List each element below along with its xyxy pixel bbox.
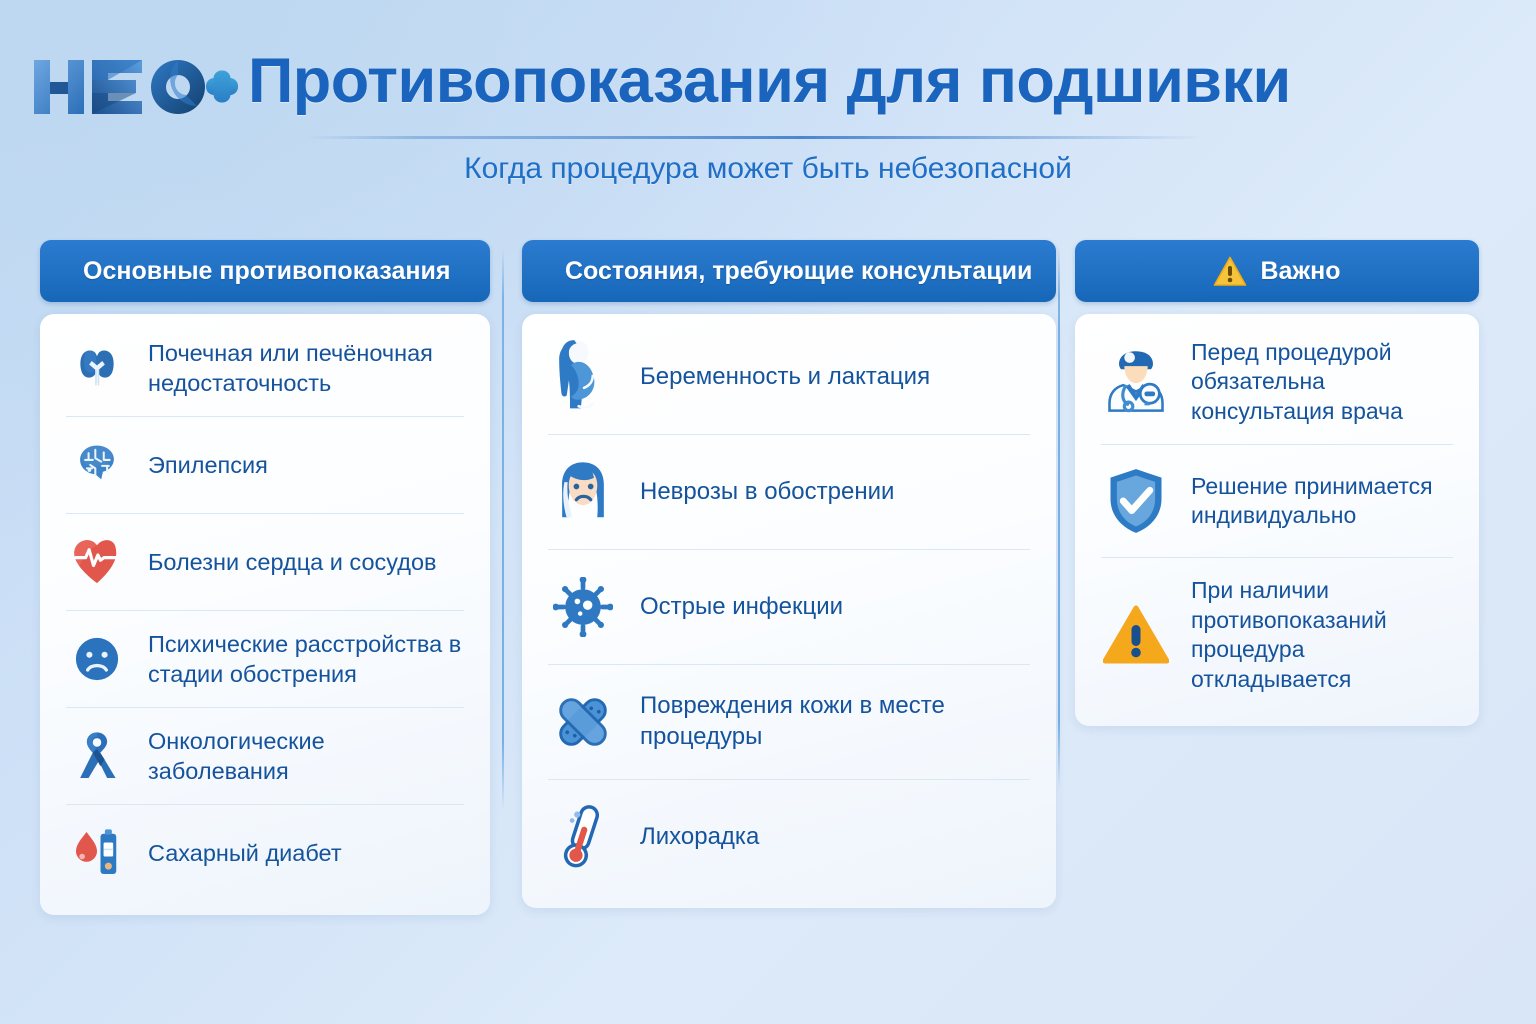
list-item-label: Психические расстройства в стадии обостр… <box>148 629 464 689</box>
list-item-label: Почечная или печёночная недостаточность <box>148 338 464 398</box>
list-item-label: Сахарный диабет <box>148 838 342 868</box>
panel-body-important: Перед процедурой обязательна консультаци… <box>1075 314 1479 726</box>
list-item-label: Повреждения кожи в месте процедуры <box>640 691 1030 752</box>
panel-body-main-contraindications: Почечная или печёночная недостаточность … <box>40 314 490 915</box>
sad-face-icon <box>66 628 128 690</box>
panel-conditions-requiring-consultation: Состояния, требующие консультации Береме… <box>522 240 1056 908</box>
list-item[interactable]: Перед процедурой обязательна консультаци… <box>1101 320 1453 444</box>
list-item[interactable]: Повреждения кожи в месте процедуры <box>548 664 1030 779</box>
list-item[interactable]: Острые инфекции <box>548 549 1030 664</box>
panel-important: Важно <box>1075 240 1479 726</box>
warning-triangle-icon <box>1213 256 1247 287</box>
kidneys-icon <box>66 337 128 399</box>
column-divider-2 <box>1058 248 1060 788</box>
list-item[interactable]: Эпилепсия <box>66 416 464 513</box>
list-item-label: Неврозы в обострении <box>640 477 894 508</box>
panel-header-important: Важно <box>1075 240 1479 302</box>
list-item-label: Решение принимается индивидуально <box>1191 472 1453 531</box>
panel-header-label: Состояния, требующие консультации <box>565 257 1032 286</box>
doctor-icon <box>1101 344 1171 420</box>
list-item[interactable]: Лихорадка <box>548 779 1030 894</box>
heart-pulse-icon <box>66 531 128 593</box>
shield-check-icon <box>1101 463 1171 539</box>
brain-icon <box>66 434 128 496</box>
list-item[interactable]: При наличии противопоказаний процедура о… <box>1101 557 1453 712</box>
list-item[interactable]: Решение принимается индивидуально <box>1101 444 1453 557</box>
list-item[interactable]: Психические расстройства в стадии обостр… <box>66 610 464 707</box>
list-item-label: Перед процедурой обязательна консультаци… <box>1191 338 1453 426</box>
list-item[interactable]: Беременность и лактация <box>548 320 1030 434</box>
infographic-canvas: Противопоказания для подшивки Когда проц… <box>0 0 1536 1024</box>
warning-triangle-icon <box>1101 597 1171 673</box>
list-item[interactable]: Болезни сердца и сосудов <box>66 513 464 610</box>
list-item[interactable]: Сахарный диабет <box>66 804 464 901</box>
panel-main-contraindications: Основные противопоказания Почечная или п… <box>40 240 490 915</box>
panel-header-label: Основные противопоказания <box>83 257 450 286</box>
list-item-label: Лихорадка <box>640 822 759 853</box>
list-item-label: При наличии противопоказаний процедура о… <box>1191 576 1453 694</box>
sad-woman-icon <box>548 454 618 530</box>
panel-body-conditions-requiring-consultation: Беременность и лактация Неврозы в обостр… <box>522 314 1056 908</box>
list-item-label: Онкологические заболевания <box>148 726 464 786</box>
list-item[interactable]: Онкологические заболевания <box>66 707 464 804</box>
panel-header-conditions-requiring-consultation: Состояния, требующие консультации <box>522 240 1056 302</box>
list-item-label: Беременность и лактация <box>640 362 930 393</box>
list-item[interactable]: Неврозы в обострении <box>548 434 1030 549</box>
list-item-label: Острые инфекции <box>640 592 843 623</box>
virus-icon <box>548 569 618 645</box>
panel-header-label: Важно <box>1260 257 1340 286</box>
list-item[interactable]: Почечная или печёночная недостаточность <box>66 320 464 416</box>
neo-plus-logo <box>30 52 240 120</box>
page-title: Противопоказания для подшивки <box>248 50 1291 113</box>
page-subtitle: Когда процедура может быть небезопасной <box>0 152 1536 186</box>
awareness-ribbon-icon <box>66 725 128 787</box>
title-divider <box>306 136 1206 139</box>
pregnant-woman-icon <box>548 339 618 415</box>
list-item-label: Эпилепсия <box>148 450 268 480</box>
column-divider-1 <box>502 248 504 810</box>
glucometer-blood-drop-icon <box>66 822 128 884</box>
list-item-label: Болезни сердца и сосудов <box>148 547 437 577</box>
page-header: Противопоказания для подшивки Когда проц… <box>0 0 1536 200</box>
bandage-icon <box>548 684 618 760</box>
panel-header-main-contraindications: Основные противопоказания <box>40 240 490 302</box>
thermometer-icon <box>548 799 618 875</box>
